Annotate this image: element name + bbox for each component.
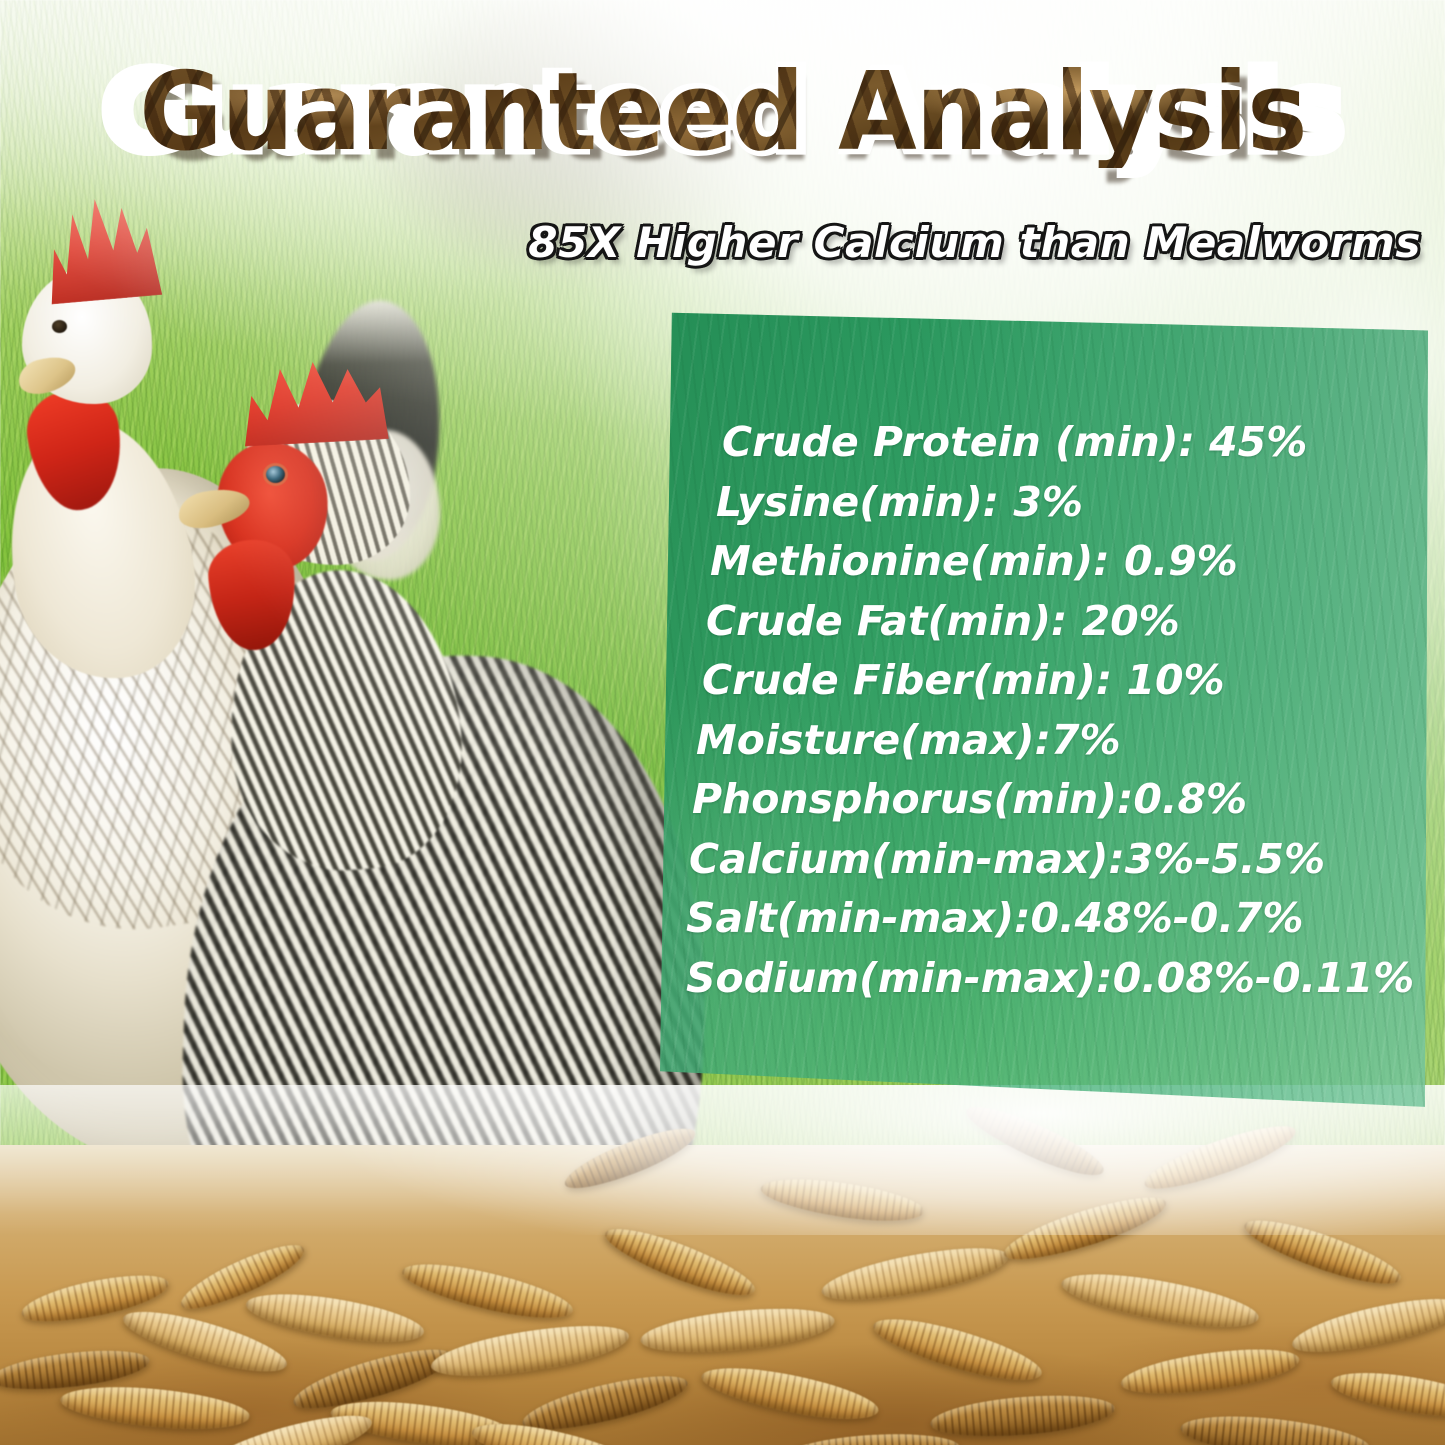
nutrition-row: Crude Fiber(min): 10% [686,651,1428,711]
nutrition-row: Lysine(min): 3% [686,473,1428,533]
nutrition-row: Phonsphorus(min):0.8% [686,770,1428,830]
larvae-pile [0,1085,1445,1445]
nutrition-row: Crude Fat(min): 20% [686,592,1428,652]
title-stack: Guaranteed Analysis Guaranteed Analysis … [102,58,1344,168]
nutrition-row: Crude Protein (min): 45% [686,413,1428,473]
nutrition-row: Sodium(min-max):0.08%-0.11% [686,949,1428,1009]
guaranteed-analysis-panel: Crude Protein (min): 45% Lysine(min): 3%… [660,305,1428,1115]
nutrition-row: Salt(min-max):0.48%-0.7% [686,889,1428,949]
poster-subtitle: 85X Higher Calcium than Mealworms [528,218,1421,267]
nutrition-row: Moisture(max):7% [686,711,1428,771]
nutrition-row: Methionine(min): 0.9% [686,532,1428,592]
title-texture-layer: Guaranteed Analysis [139,58,1306,168]
poster-title: Guaranteed Analysis Guaranteed Analysis … [0,58,1445,168]
nutrition-row: Calcium(min-max):3%-5.5% [686,830,1428,890]
nutrition-facts-list: Crude Protein (min): 45% Lysine(min): 3%… [660,413,1428,1008]
product-marketing-poster: Guaranteed Analysis Guaranteed Analysis … [0,0,1445,1445]
